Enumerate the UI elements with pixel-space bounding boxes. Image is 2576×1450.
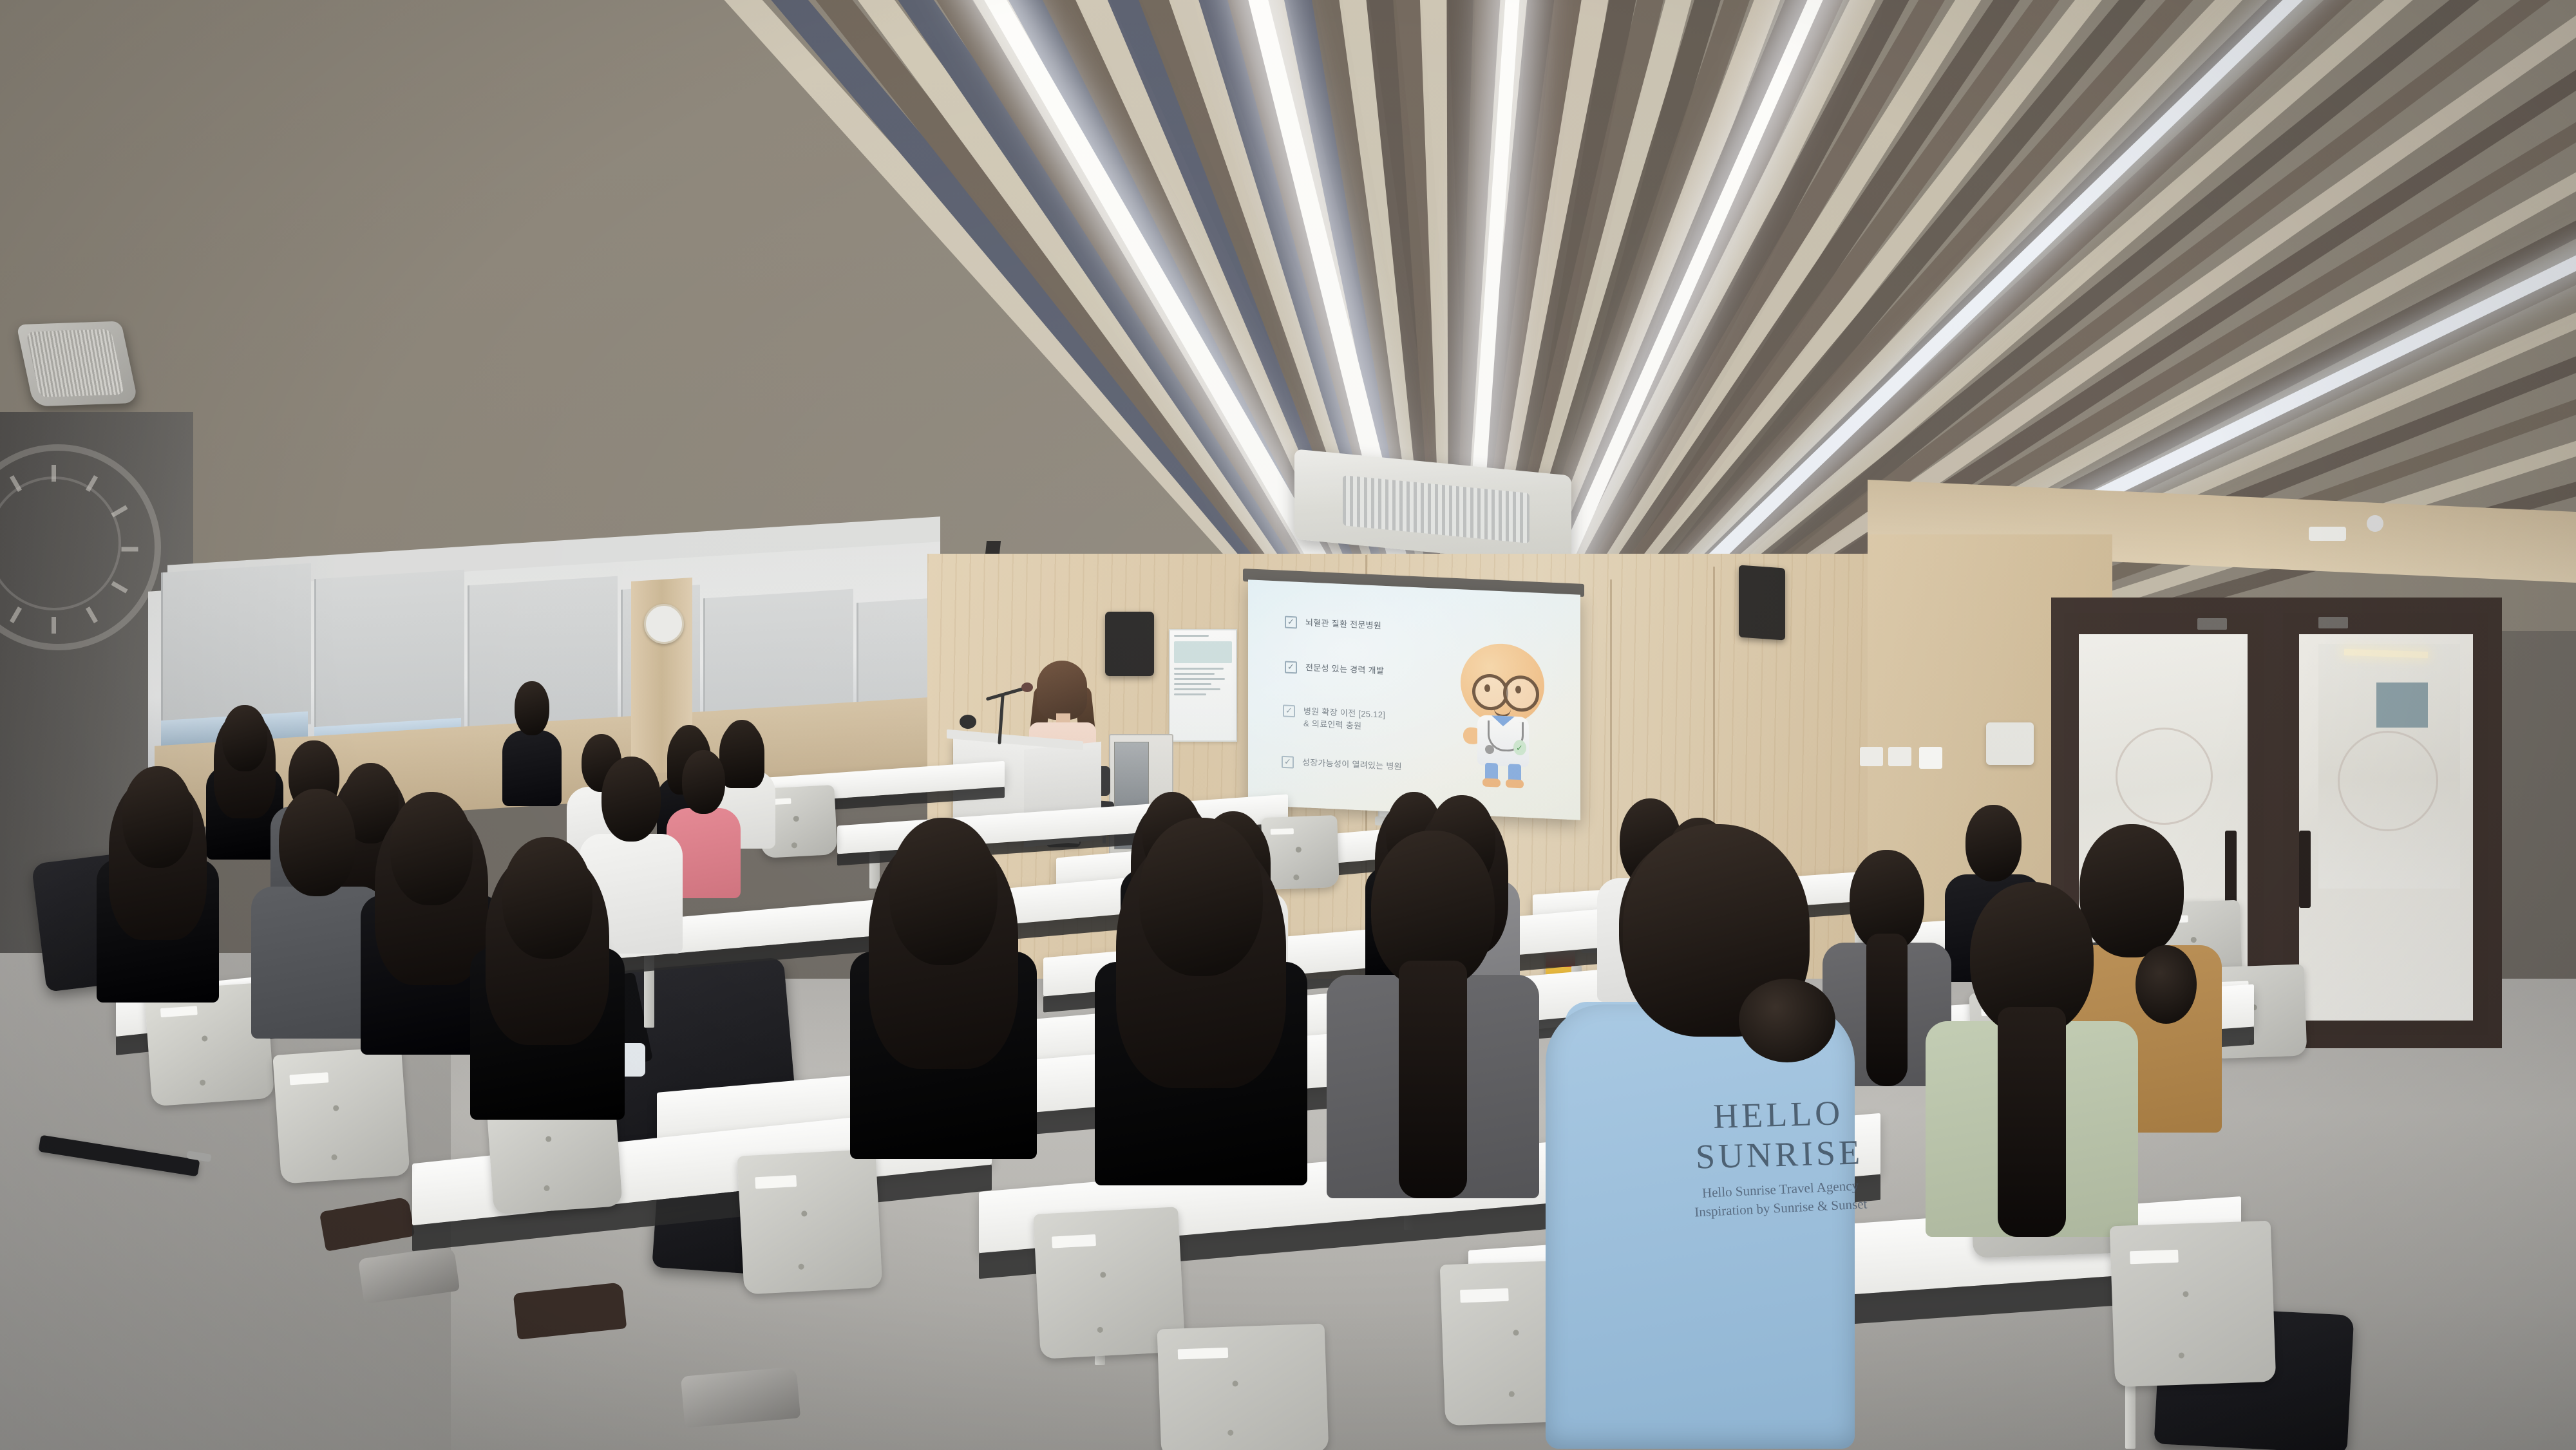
person-torso bbox=[502, 730, 562, 806]
chair-label-tag bbox=[2130, 1250, 2179, 1265]
student-back-row-left bbox=[502, 681, 562, 804]
chair-backrest bbox=[737, 1149, 883, 1295]
round-wall-control[interactable] bbox=[1986, 722, 2034, 765]
chair-bolt bbox=[1100, 1272, 1106, 1277]
notice-line bbox=[1174, 678, 1225, 680]
chair-backrest bbox=[1157, 1324, 1329, 1450]
person-ponytail bbox=[1998, 1007, 2066, 1236]
lecture-chair[interactable] bbox=[2110, 1221, 2277, 1388]
mascot-eye-left-icon bbox=[1484, 684, 1490, 692]
person-head bbox=[682, 750, 725, 814]
lecture-chair[interactable] bbox=[1157, 1324, 1329, 1450]
chair-label-tag bbox=[1052, 1234, 1095, 1248]
mascot-shoe-left-icon bbox=[1482, 778, 1501, 787]
chair-backrest bbox=[272, 1046, 410, 1183]
person-ponytail bbox=[1866, 934, 1908, 1087]
person-hair-bun bbox=[2136, 945, 2197, 1024]
analog-wall-clock bbox=[644, 604, 684, 644]
person-head bbox=[889, 818, 998, 965]
mascot-badge-check-icon: ✓ bbox=[1516, 743, 1523, 753]
sneaker-right bbox=[681, 1366, 800, 1427]
person-head bbox=[502, 837, 592, 959]
wall-speaker-front bbox=[1105, 612, 1154, 676]
person-head bbox=[122, 766, 193, 868]
slide-mascot-illustration: ✓ bbox=[1449, 641, 1558, 788]
corridor-exit-light bbox=[2309, 527, 2346, 541]
lecture-chair[interactable] bbox=[737, 1149, 883, 1295]
person-ponytail bbox=[1399, 961, 1467, 1199]
speaker-mesh-icon bbox=[26, 329, 125, 397]
shirt-main-text: HELLO SUNRISE bbox=[1642, 1091, 1915, 1178]
mascot-shoe-right-icon bbox=[1506, 779, 1524, 788]
hello-sunrise-shirt-print: HELLO SUNRISE Hello Sunrise Travel Agenc… bbox=[1642, 1091, 1916, 1220]
door-closer-right bbox=[2318, 617, 2348, 628]
slide-check-icon: ✓ bbox=[1283, 704, 1295, 717]
light-switch-panel[interactable] bbox=[1919, 747, 1942, 769]
student-grey-knit bbox=[1327, 831, 1539, 1191]
microphone-secondary-icon bbox=[960, 715, 976, 729]
notice-line bbox=[1174, 673, 1215, 675]
slide-check-icon: ✓ bbox=[1282, 756, 1294, 769]
chair-label-tag bbox=[1178, 1348, 1229, 1360]
student-black-dress-center bbox=[1095, 818, 1307, 1178]
chair-bolt bbox=[202, 1035, 208, 1042]
lecture-hall-photo: ✓뇌혈관 질환 전문병원✓전문성 있는 경력 개발✓병원 확장 이전 [25.1… bbox=[0, 0, 2576, 1450]
wall-speaker-right bbox=[1739, 565, 1785, 640]
notice-poster bbox=[1169, 629, 1237, 742]
notice-line bbox=[1174, 635, 1209, 637]
notice-line bbox=[1174, 683, 1211, 685]
microphone-head-icon bbox=[1021, 683, 1033, 692]
chair-backrest bbox=[2110, 1221, 2277, 1388]
student-sage-green bbox=[1926, 882, 2138, 1230]
lecture-chair[interactable] bbox=[272, 1046, 410, 1183]
chair-label-tag bbox=[1460, 1288, 1509, 1303]
chair-label-tag bbox=[755, 1175, 797, 1189]
person-head bbox=[1965, 805, 2022, 881]
student-black-long-hair bbox=[97, 766, 219, 998]
presenter-hair bbox=[1037, 661, 1087, 720]
person-head bbox=[390, 792, 473, 905]
slide-check-icon: ✓ bbox=[1285, 616, 1297, 629]
mascot-stethoscope-bell-icon bbox=[1485, 745, 1494, 755]
notice-line bbox=[1174, 688, 1220, 690]
door-logo-decal-right bbox=[2338, 731, 2438, 831]
door-handle-right[interactable] bbox=[2299, 831, 2311, 908]
student-black-dress-center bbox=[470, 837, 625, 1114]
hello-sunrise-shirt-body bbox=[1546, 1004, 1855, 1449]
person-head bbox=[515, 681, 549, 735]
slide-check-icon: ✓ bbox=[1285, 661, 1297, 674]
person-head bbox=[1139, 818, 1262, 976]
person-head bbox=[601, 757, 661, 842]
person-head bbox=[222, 705, 267, 771]
hello-sunrise-person-bun bbox=[1739, 979, 1835, 1062]
door-handle-left[interactable] bbox=[2225, 831, 2237, 908]
slide-bullet-text: 병원 확장 이전 [25.12] & 의료인력 충원 bbox=[1303, 706, 1385, 733]
person-head bbox=[279, 789, 355, 896]
corridor-end-wall bbox=[2376, 683, 2428, 728]
notice-block bbox=[1174, 641, 1232, 663]
notice-line bbox=[1174, 668, 1224, 670]
roller-blind[interactable] bbox=[314, 570, 464, 738]
notice-line bbox=[1174, 693, 1206, 695]
slide-bullet-row: ✓병원 확장 이전 [25.12] & 의료인력 충원 bbox=[1283, 704, 1385, 733]
mascot-eye-right-icon bbox=[1515, 686, 1521, 693]
ac-controller-panel-2[interactable] bbox=[1888, 747, 1911, 766]
student-black-dress-center bbox=[850, 818, 1037, 1153]
ac-controller-panel[interactable] bbox=[1860, 747, 1883, 766]
door-closer-left bbox=[2197, 618, 2227, 630]
ceiling-sensor-icon bbox=[2367, 515, 2383, 532]
door-logo-decal-left bbox=[2116, 728, 2213, 825]
